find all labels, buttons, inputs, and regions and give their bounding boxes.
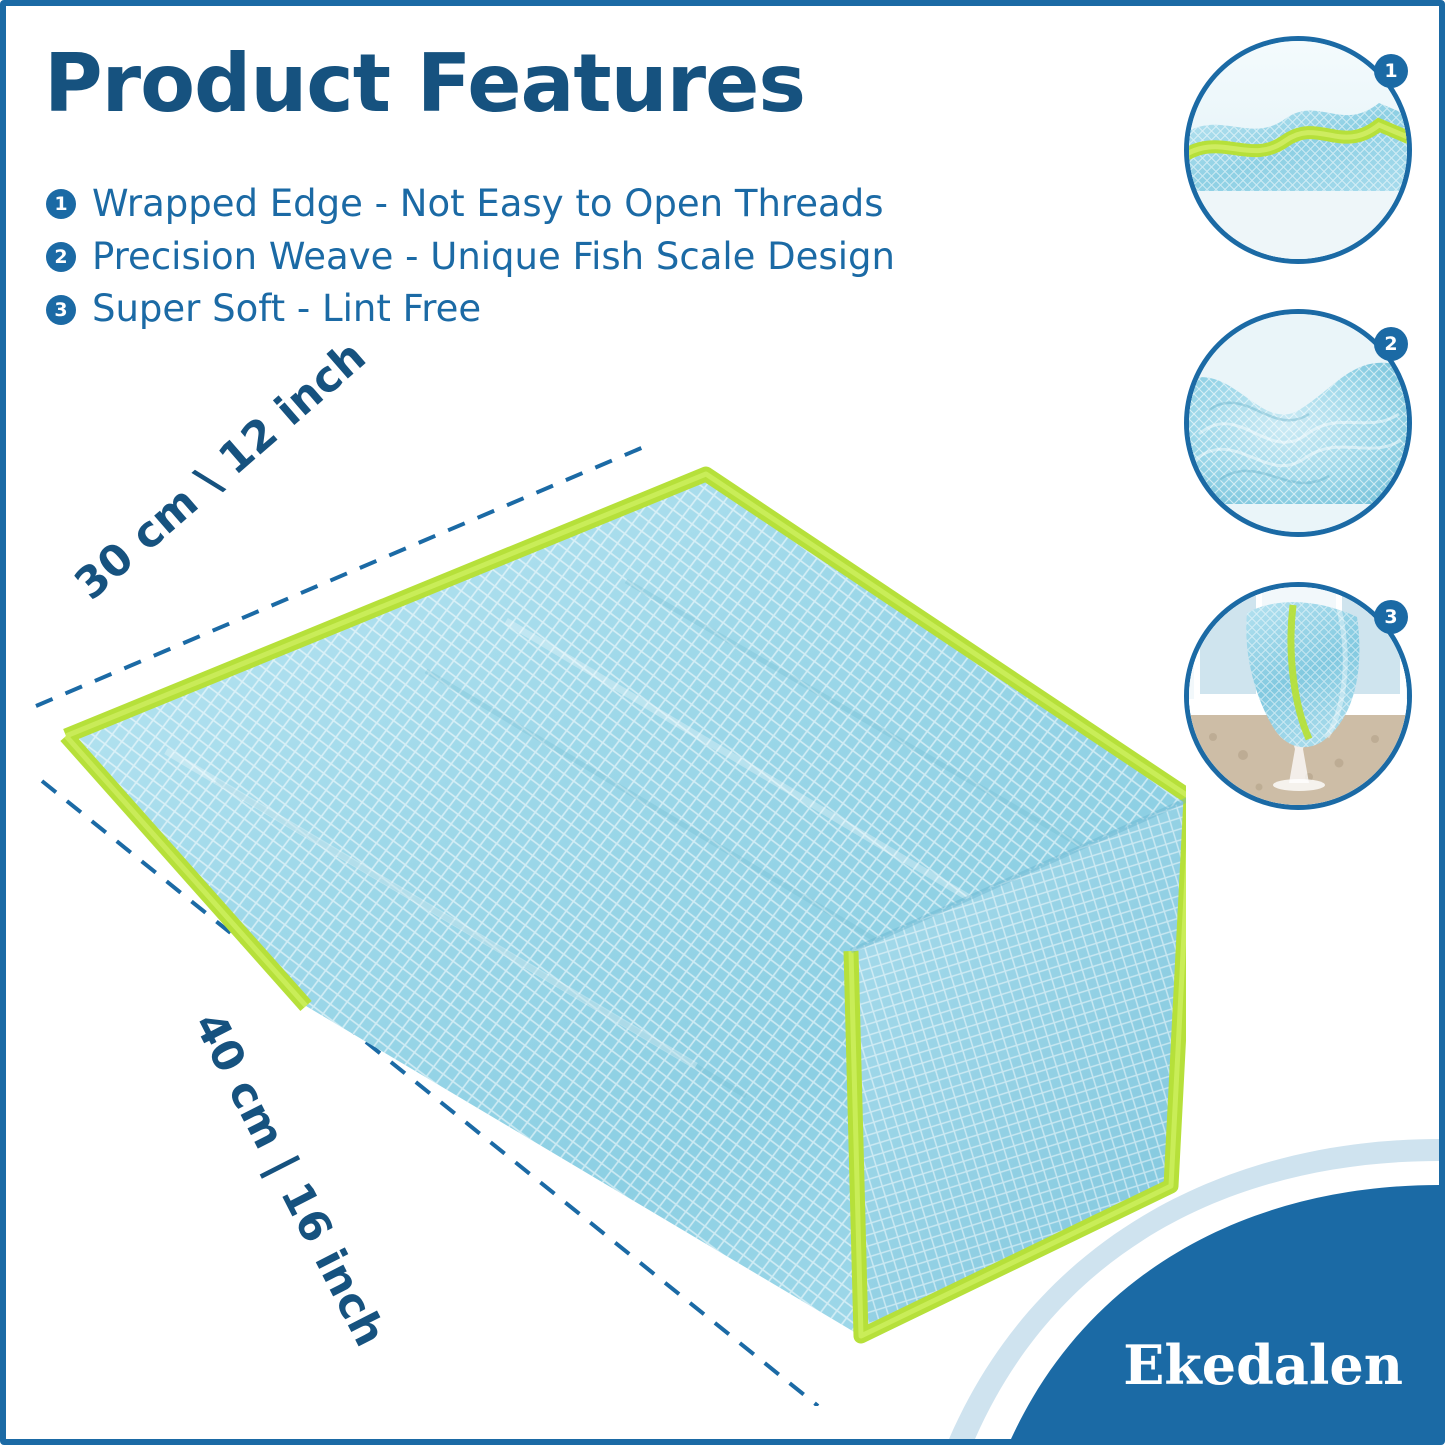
features-list: 1 Wrapped Edge - Not Easy to Open Thread… (46, 184, 876, 342)
infographic-frame: Product Features 1 Wrapped Edge - Not Ea… (0, 0, 1445, 1445)
list-item: 3 Super Soft - Lint Free (46, 289, 876, 330)
thumbnail-badge-1: 1 (1374, 54, 1408, 88)
list-item: 1 Wrapped Edge - Not Easy to Open Thread… (46, 184, 876, 225)
brand-logo: Ekedalen (1123, 1333, 1403, 1397)
thumbnail-badge-3: 3 (1374, 600, 1408, 634)
list-item: 2 Precision Weave - Unique Fish Scale De… (46, 237, 876, 278)
feature-number-badge: 1 (46, 189, 76, 219)
page-title: Product Features (44, 44, 805, 124)
feature-label: Wrapped Edge - Not Easy to Open Threads (92, 184, 884, 225)
feature-number-badge: 3 (46, 295, 76, 325)
thumbnail-badge-2: 2 (1374, 327, 1408, 361)
product-illustration (6, 406, 1186, 1406)
feature-label: Precision Weave - Unique Fish Scale Desi… (92, 237, 895, 278)
feature-number-badge: 2 (46, 242, 76, 272)
feature-label: Super Soft - Lint Free (92, 289, 481, 330)
